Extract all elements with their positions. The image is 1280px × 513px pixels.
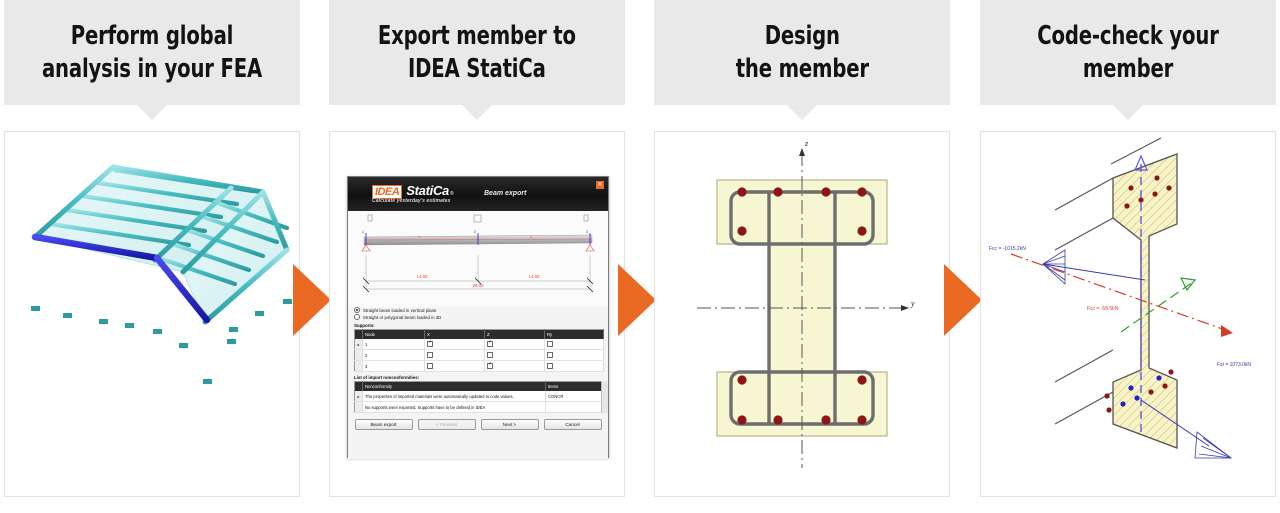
cancel-button[interactable]: Cancel [544,419,602,430]
row-ry [545,339,604,350]
checkbox-ry[interactable] [547,352,553,358]
row-marker [355,350,363,361]
row-node: 2 [363,350,425,361]
arrow-step3-to-step4 [944,264,982,336]
row-marker [355,361,363,372]
reinforced-concrete-cross-section: z y [655,132,949,496]
axis-red [1011,254,1231,332]
nc-col-marker [355,382,363,392]
checkbox-z[interactable] [487,352,493,358]
step-1-header: Perform global analysis in your FEA [4,0,300,105]
idea-statica-logo: IDEA StatiCa ® [372,183,454,199]
previous-button[interactable]: < Previous [418,419,476,430]
axis-z-label: z [804,139,809,148]
arrow-step1-to-step2 [293,264,331,336]
axis-y-arrow [901,305,909,311]
row-marker: ▸ [355,339,363,350]
step-4: Code-check your member [980,0,1276,513]
step-4-title: Code-check your member [1037,20,1218,85]
radio-icon-vertical[interactable] [354,307,360,313]
svg-text:1: 1 [362,230,364,234]
cross-section-svg: z y [655,132,949,496]
nonconformities-table: Nonconformity Items ▸ The properties of … [354,381,604,413]
force-arrow-fcc-top [1043,250,1145,284]
row-ry [545,350,604,361]
step-3-header: Design the member [654,0,950,105]
table-row[interactable]: ▸ 1 [355,339,604,350]
svg-text:3: 3 [586,230,588,234]
svg-text:1: 1 [418,235,420,239]
nc-row-marker: ▸ [355,391,363,402]
step-3-notch [787,105,817,120]
supports-col-z: Z [485,330,545,340]
row-z [485,339,545,350]
scrollbar[interactable] [601,381,608,413]
axis-green [1121,282,1193,332]
force-fcc-top-label: Fcc = -1015.2kN [989,246,1026,252]
step-1: Perform global analysis in your FEA [4,0,300,513]
code-check-svg [981,132,1275,496]
fea-frame-svg [5,132,299,496]
row-z [485,350,545,361]
beam-export-button[interactable]: Beam export [355,419,413,430]
fea-3d-frame-model [5,132,299,496]
idea-statica-beam-export-dialog: IDEA StatiCa ® Calculate yesterday's est… [347,176,609,458]
checkbox-x[interactable] [427,352,433,358]
radio-icon-3d[interactable] [354,314,360,320]
row-x [425,339,485,350]
checkbox-z[interactable] [487,341,493,347]
option-3d-label: Straight or polygonal beam loaded in 3D [363,315,441,320]
supports-col-marker [355,330,363,340]
row-x [425,361,485,372]
force-fcc-web-label: Fcc = -58.5kN [1087,306,1118,312]
dialog-body: 123 12 [348,211,608,459]
supports-table: Node X Z Ry ▸ 1 [354,329,604,372]
dialog-button-row: Beam export < Previous Next > Cancel [348,419,608,430]
option-vertical-plane[interactable]: Straight beam loaded in vertical plane [354,307,608,313]
axis-red-arrow [1221,325,1233,337]
option-3d[interactable]: Straight or polygonal beam loaded in 3D [354,314,608,320]
checkbox-x[interactable] [427,341,433,347]
row-ry [545,361,604,372]
step-4-body: Fcc = -1015.2kN Fcc = -58.5kN Fst = 1073… [980,131,1276,497]
nonconformities-scroll-area: Nonconformity Items ▸ The properties of … [348,381,608,413]
step-1-title: Perform global analysis in your FEA [42,20,262,85]
svg-text:2: 2 [530,235,532,239]
checkbox-ry[interactable] [547,341,553,347]
logo-registered-mark: ® [450,191,454,197]
beam-diagram: 123 12 [348,211,608,307]
checkbox-ry[interactable] [547,363,553,369]
step-2-title: Export member to IDEA StatiCa [378,20,576,85]
step-2-header: Export member to IDEA StatiCa [329,0,625,105]
step-1-body [4,131,300,497]
beam-diagram-svg: 123 12 [348,211,608,307]
logo-statica-text: StatiCa [406,183,449,198]
nc-row-text: No supports were exported. Supports have… [363,402,546,413]
beam-type-options: Straight beam loaded in vertical plane S… [348,307,608,320]
axis-z-arrow [799,148,805,156]
list-item[interactable]: No supports were exported. Supports have… [355,402,604,413]
table-row[interactable]: 3 [355,361,604,372]
list-item[interactable]: ▸ The properties of imported materials w… [355,391,604,402]
dim-span-2: 14.00 [529,274,541,279]
row-node: 3 [363,361,425,372]
checkbox-x[interactable] [427,363,433,369]
supports-header-row: Node X Z Ry [355,330,604,340]
nonconformities-label: List of import nonconformities: [354,375,608,380]
arrow-step2-to-step3 [618,264,656,336]
svg-text:2: 2 [474,230,476,234]
nc-col-items: Items [546,382,604,392]
step-3-title: Design the member [735,20,868,85]
step-2-body: IDEA StatiCa ® Calculate yesterday's est… [329,131,625,497]
supports-col-node: Node [363,330,425,340]
row-x [425,350,485,361]
nc-row-items: CONCR [546,391,604,402]
row-z [485,361,545,372]
option-vertical-label: Straight beam loaded in vertical plane [363,308,436,313]
nonconformities-header-row: Nonconformity Items [355,382,604,392]
step-1-notch [137,105,167,120]
supports-col-x: X [425,330,485,340]
supports-label: Supports: [354,323,608,328]
row-node: 1 [363,339,425,350]
logo-idea-text: IDEA [372,185,402,199]
dialog-titlebar: IDEA StatiCa ® Calculate yesterday's est… [348,177,608,211]
checkbox-z[interactable] [487,363,493,369]
nc-row-items [546,402,604,413]
dim-span-1: 14.00 [417,274,429,279]
code-check-3d-stress-view: Fcc = -1015.2kN Fcc = -58.5kN Fst = 1073… [981,132,1275,496]
step-4-notch [1113,105,1143,120]
nc-row-marker [355,402,363,413]
dim-total: 28.00 [473,283,485,288]
step-3: Design the member [654,0,950,513]
logo-tagline: Calculate yesterday's estimates [372,198,451,204]
step-2-notch [462,105,492,120]
step-4-header: Code-check your member [980,0,1276,105]
axis-y-label: y [910,299,915,308]
nc-col-text: Nonconformity [363,382,546,392]
nc-row-text: The properties of imported materials wer… [363,391,546,402]
step-2: Export member to IDEA StatiCa IDEA Stati… [329,0,625,513]
process-flow-infographic: Perform global analysis in your FEA [0,0,1280,513]
table-row[interactable]: 2 [355,350,604,361]
step-3-body: z y [654,131,950,497]
force-fst-bottom-label: Fst = 1073.0kN [1217,362,1251,368]
next-button[interactable]: Next > [481,419,539,430]
close-icon[interactable]: ✕ [596,181,604,189]
supports-col-ry: Ry [545,330,604,340]
dialog-title: Beam export [484,190,526,197]
